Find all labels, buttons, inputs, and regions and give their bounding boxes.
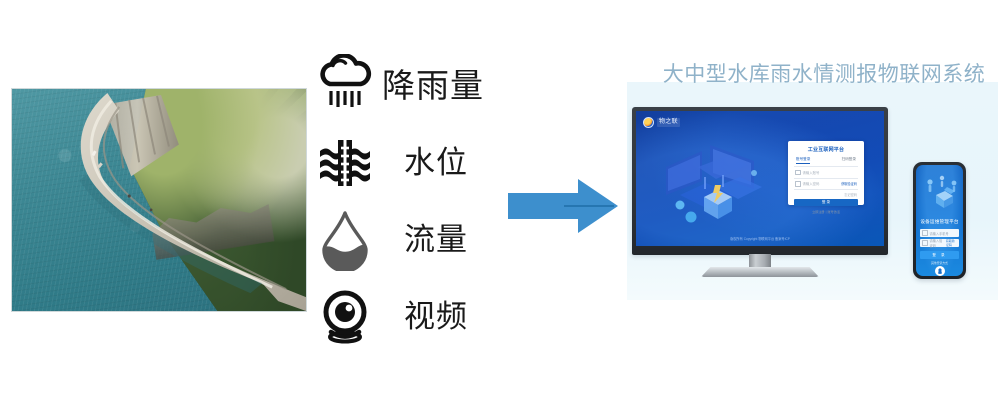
sensor-item-rainfall: 降雨量 bbox=[312, 48, 512, 122]
webcam-icon bbox=[312, 282, 378, 352]
phone-isometric-illustration bbox=[922, 173, 961, 213]
captcha-button[interactable]: 获取验证码 bbox=[841, 181, 857, 186]
sensor-label-rainfall: 降雨量 bbox=[382, 69, 484, 102]
brand-name: 物之联 bbox=[657, 118, 680, 127]
monitor-bezel: 物之联 bbox=[632, 107, 888, 255]
login-tabs[interactable]: 账号登录 扫码登录 bbox=[794, 157, 858, 167]
phone-username-placeholder: 请输入手机号 bbox=[930, 231, 949, 236]
screen-footer-text: 版权所有 Copyright 物联网平台 备案号ICP bbox=[636, 236, 884, 241]
sensor-item-flow: 流量 bbox=[312, 203, 512, 277]
sensor-type-list: 降雨量 bbox=[312, 48, 512, 354]
login-submit-button[interactable]: 登 录 bbox=[794, 199, 858, 206]
rain-cloud-icon bbox=[312, 50, 378, 120]
isometric-hero-illustration bbox=[658, 137, 780, 227]
phone-captcha-button[interactable]: 获取验证码 bbox=[946, 239, 957, 247]
desktop-monitor-mockup: 物之联 bbox=[632, 107, 888, 275]
phone-password-placeholder: 请输入验证码 bbox=[930, 238, 945, 248]
sensor-item-water-level: 水位 bbox=[312, 126, 512, 200]
phone-user-icon bbox=[922, 230, 928, 236]
user-icon bbox=[795, 170, 801, 176]
water-drop-icon bbox=[312, 205, 378, 275]
tab-qr-login[interactable]: 扫码登录 bbox=[842, 157, 856, 164]
avatar-glyph bbox=[937, 268, 943, 274]
login-card: 工业互联网平台 账号登录 扫码登录 请输入账号 请输入密码 获取验证码 忘记密码… bbox=[788, 141, 864, 205]
phone-title: 设备运维管理平台 bbox=[916, 219, 963, 225]
phone-screen: 设备运维管理平台 请输入手机号 请输入验证码 获取验证码 登 录 其他登录方式 bbox=[916, 165, 963, 276]
brand-logo: 物之联 bbox=[643, 117, 680, 128]
password-field[interactable]: 请输入密码 获取验证码 bbox=[794, 179, 858, 191]
brand-mark-icon bbox=[643, 117, 654, 128]
monitor-stand-base bbox=[701, 267, 819, 277]
phone-username-field[interactable]: 请输入手机号 bbox=[920, 229, 959, 237]
right-arrow-icon bbox=[504, 177, 622, 235]
sensor-label-water-level: 水位 bbox=[404, 148, 468, 179]
username-field[interactable]: 请输入账号 bbox=[794, 167, 858, 179]
password-placeholder: 请输入密码 bbox=[803, 181, 820, 186]
tab-account-login[interactable]: 账号登录 bbox=[796, 157, 810, 164]
sensor-label-video: 视频 bbox=[404, 302, 468, 333]
monitor-screen: 物之联 bbox=[636, 111, 884, 246]
login-footer-links[interactable]: 立即注册丨账号激活 bbox=[794, 209, 858, 214]
phone-password-field[interactable]: 请输入验证码 获取验证码 bbox=[920, 239, 959, 247]
reservoir-dam-photo bbox=[11, 88, 307, 312]
username-placeholder: 请输入账号 bbox=[803, 170, 820, 175]
sensor-item-video: 视频 bbox=[312, 280, 512, 354]
page-title: 大中型水库雨水情测报物联网系统 bbox=[650, 58, 998, 88]
phone-lock-icon bbox=[922, 240, 928, 246]
login-title: 工业互联网平台 bbox=[794, 146, 858, 153]
sensor-label-flow: 流量 bbox=[404, 225, 468, 256]
phone-login-button[interactable]: 登 录 bbox=[920, 251, 959, 259]
dam-wall bbox=[12, 89, 306, 311]
phone-other-login-label: 其他登录方式 bbox=[916, 261, 963, 265]
lock-icon bbox=[795, 181, 801, 187]
forgot-password-link[interactable]: 忘记密码 bbox=[794, 192, 857, 197]
water-level-icon bbox=[312, 128, 378, 198]
mobile-phone-mockup: 设备运维管理平台 请输入手机号 请输入验证码 获取验证码 登 录 其他登录方式 bbox=[913, 162, 966, 279]
user-avatar-icon[interactable] bbox=[935, 266, 945, 276]
